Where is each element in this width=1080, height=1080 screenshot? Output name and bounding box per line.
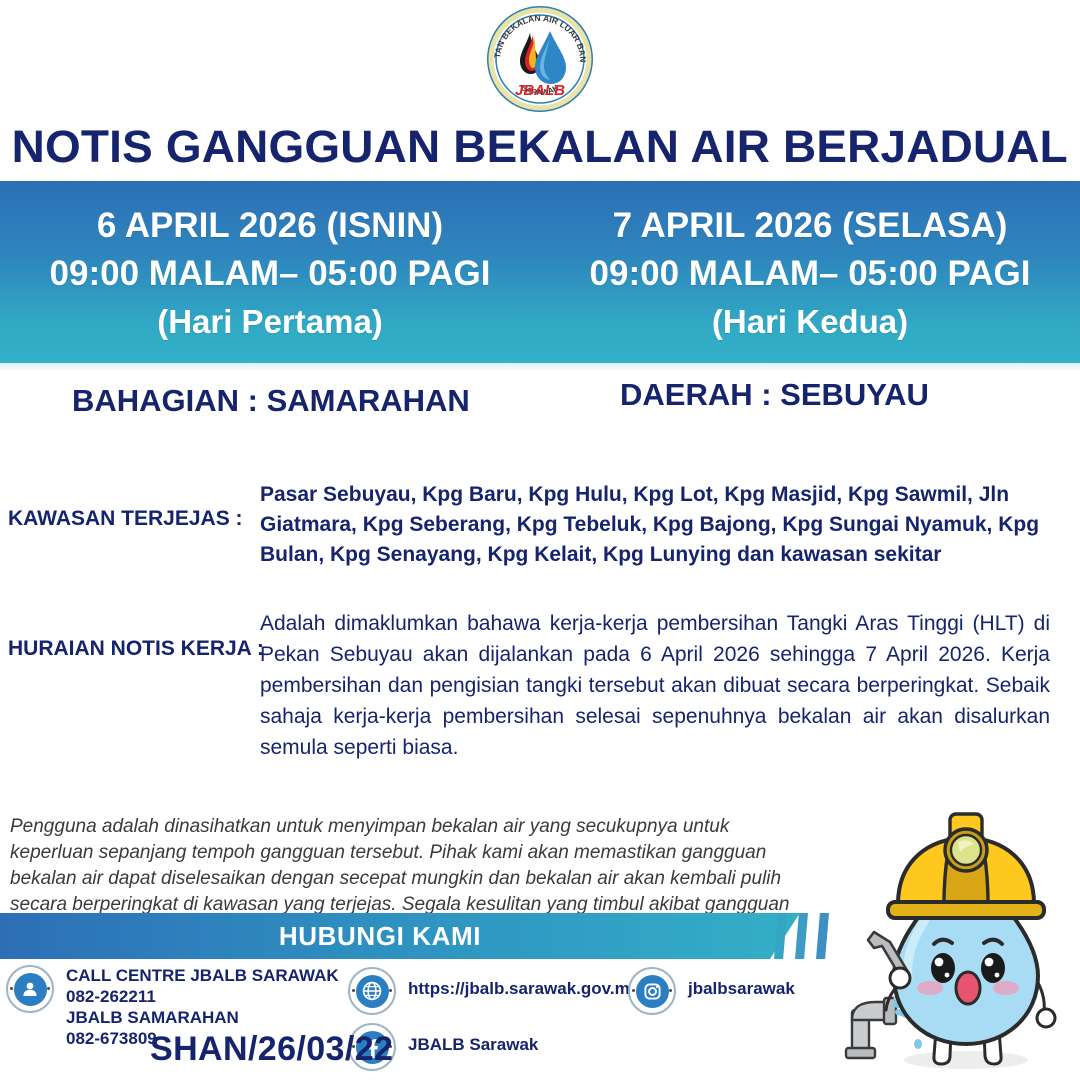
bahagian-label: BAHAGIAN : SAMARAHAN: [72, 383, 470, 419]
schedule-daylabel-1: (Hari Pertama): [157, 298, 383, 346]
schedule-date-2: 7 APRIL 2026 (SELASA): [613, 202, 1008, 250]
affected-areas-value: Pasar Sebuyau, Kpg Baru, Kpg Hulu, Kpg L…: [260, 480, 1050, 570]
work-description-label: HURAIAN NOTIS KERJA :: [8, 608, 260, 763]
schedule-day-2: 7 APRIL 2026 (SELASA) 09:00 MALAM– 05:00…: [540, 181, 1080, 363]
svg-text:JBALB: JBALB: [515, 82, 565, 99]
logo-container: JABATAN BEKALAN AIR LUAR BANDAR SARAWAK …: [0, 4, 1080, 114]
reference-code: SHAN/26/03/22: [150, 1030, 393, 1069]
affected-areas-label: KAWASAN TERJEJAS :: [8, 480, 260, 570]
work-description-row: HURAIAN NOTIS KERJA : Adalah dimaklumkan…: [8, 608, 1072, 763]
title-container: NOTIS GANGGUAN BEKALAN AIR BERJADUAL: [0, 113, 1080, 181]
website-item[interactable]: https://jbalb.sarawak.gov.my/: [348, 967, 644, 1015]
water-droplet-mascot: [838, 798, 1080, 1080]
schedule-time-2: 09:00 MALAM– 05:00 PAGI: [590, 250, 1031, 298]
schedule-banner: 6 APRIL 2026 (ISNIN) 09:00 MALAM– 05:00 …: [0, 181, 1080, 363]
page-title: NOTIS GANGGUAN BEKALAN AIR BERJADUAL: [12, 121, 1068, 173]
banner-fade-divider: [0, 363, 1080, 371]
schedule-daylabel-2: (Hari Kedua): [712, 298, 908, 346]
daerah-label: DAERAH : SEBUYAU: [620, 377, 929, 413]
person-icon: [6, 965, 54, 1013]
call-centre-line3: JBALB SAMARAHAN: [66, 1007, 339, 1028]
facebook-handle[interactable]: JBALB Sarawak: [408, 1023, 538, 1067]
schedule-date-1: 6 APRIL 2026 (ISNIN): [97, 202, 443, 250]
jbalb-logo: JABATAN BEKALAN AIR LUAR BANDAR SARAWAK …: [486, 5, 594, 113]
instagram-item[interactable]: jbalbsarawak: [628, 967, 795, 1015]
division-row: BAHAGIAN : SAMARAHAN DAERAH : SEBUYAU: [0, 383, 1080, 431]
call-centre-line2: 082-262211: [66, 986, 339, 1007]
globe-icon: [348, 967, 396, 1015]
instagram-handle[interactable]: jbalbsarawak: [688, 967, 795, 1011]
affected-areas-row: KAWASAN TERJEJAS : Pasar Sebuyau, Kpg Ba…: [8, 480, 1072, 570]
decorative-slash-icon: [816, 913, 829, 959]
work-description-value: Adalah dimaklumkan bahawa kerja-kerja pe…: [260, 608, 1050, 763]
contact-heading: HUBUNGI KAMI: [0, 913, 760, 959]
website-url[interactable]: https://jbalb.sarawak.gov.my/: [408, 967, 644, 1011]
decorative-slash-icon: [795, 913, 808, 959]
water-disruption-notice-poster: JABATAN BEKALAN AIR LUAR BANDAR SARAWAK …: [0, 0, 1080, 1080]
schedule-time-1: 09:00 MALAM– 05:00 PAGI: [50, 250, 491, 298]
instagram-icon: [628, 967, 676, 1015]
call-centre-line1: CALL CENTRE JBALB SARAWAK: [66, 965, 339, 986]
schedule-day-1: 6 APRIL 2026 (ISNIN) 09:00 MALAM– 05:00 …: [0, 181, 540, 363]
